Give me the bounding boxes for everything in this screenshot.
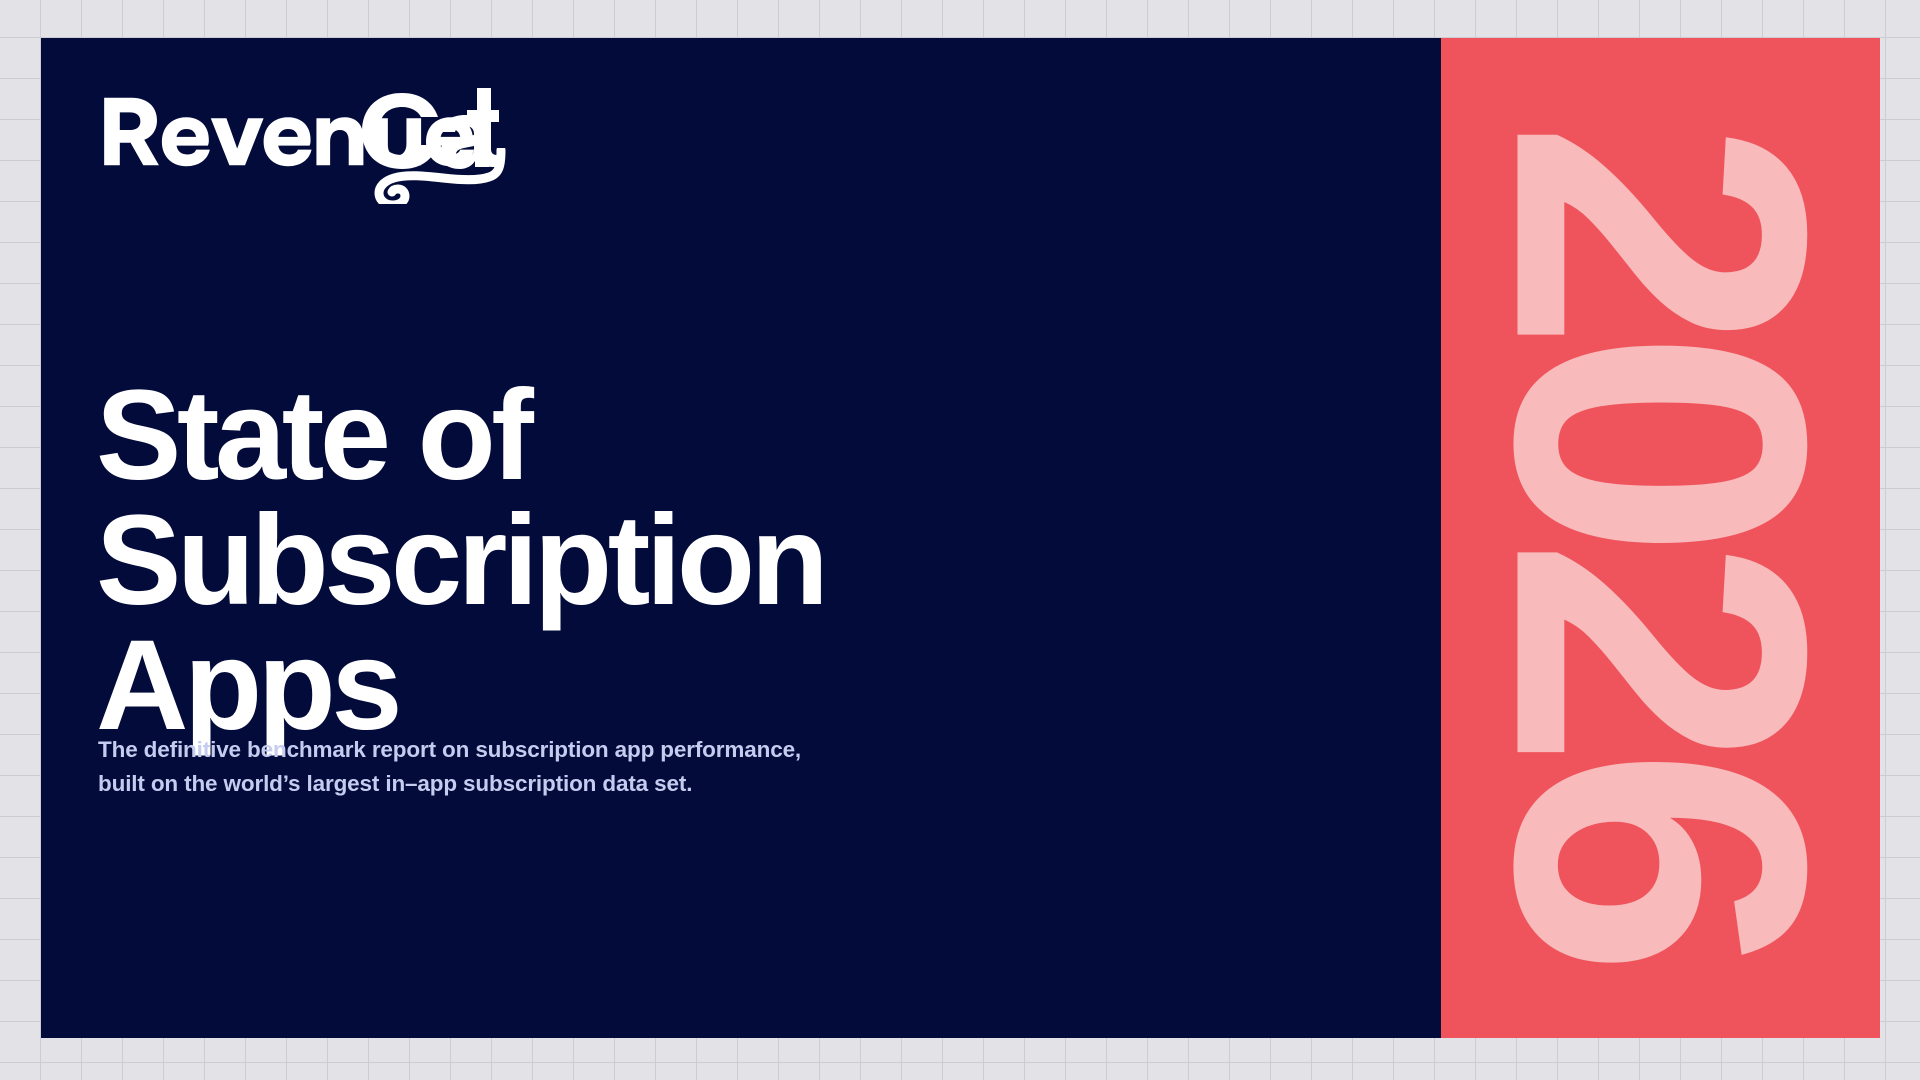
title-line-3: Apps — [96, 623, 1276, 748]
title-line-2: Subscription — [96, 498, 1276, 623]
cover-main-panel: State of Subscription Apps The definitiv… — [41, 38, 1441, 1038]
subtitle-line-1: The definitive benchmark report on subsc… — [98, 733, 1098, 767]
page-background: State of Subscription Apps The definitiv… — [0, 0, 1920, 1080]
cat-tail-swash-icon — [341, 148, 521, 204]
subtitle-line-2: built on the world’s largest in–app subs… — [98, 767, 1098, 801]
page-title: State of Subscription Apps — [96, 373, 1276, 748]
cover-year-panel: 2026 — [1441, 38, 1880, 1038]
report-year: 2026 — [1453, 120, 1868, 955]
title-line-1: State of — [96, 373, 1276, 498]
report-cover-card: State of Subscription Apps The definitiv… — [41, 38, 1880, 1038]
page-subtitle: The definitive benchmark report on subsc… — [98, 733, 1098, 801]
